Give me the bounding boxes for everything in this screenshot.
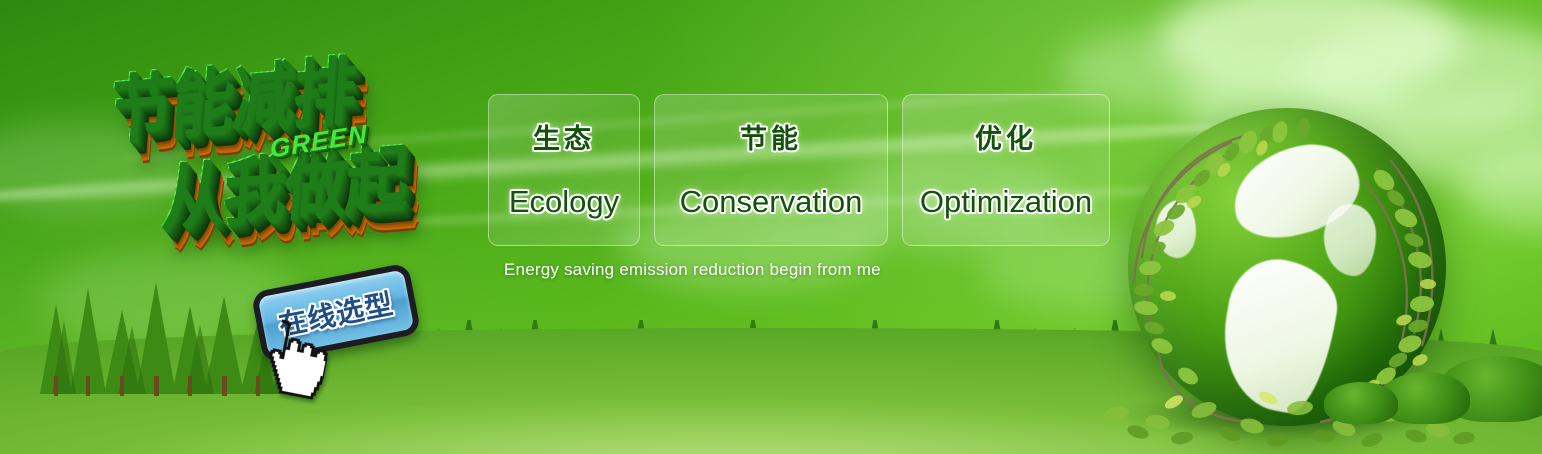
cloud-icon xyxy=(1460,150,1542,230)
feature-card-conservation[interactable]: 节能 Conservation xyxy=(654,94,888,246)
pointing-hand-cursor-icon xyxy=(234,311,333,413)
cloud-icon xyxy=(1160,0,1460,100)
feature-card-ecology[interactable]: 生态 Ecology xyxy=(488,94,640,246)
feature-card-title-cn: 节能 xyxy=(740,117,802,156)
feature-card-title-en: Optimization xyxy=(920,184,1092,220)
feature-card-title-cn: 生态 xyxy=(533,117,595,156)
feature-card-list: 生态 Ecology 节能 Conservation 优化 Optimizati… xyxy=(488,94,1110,246)
feature-card-title-en: Ecology xyxy=(509,184,619,220)
feature-card-optimization[interactable]: 优化 Optimization xyxy=(902,94,1110,246)
banner-tagline: Energy saving emission reduction begin f… xyxy=(504,260,881,280)
feature-card-title-en: Conservation xyxy=(680,184,863,220)
promo-banner: 节能减排 GREEN 从我做起 生态 Ecology 节能 Conservati… xyxy=(0,0,1542,454)
feature-card-title-cn: 优化 xyxy=(975,117,1037,156)
headline-3d-text: 节能减排 GREEN 从我做起 xyxy=(100,38,500,278)
bush-icon xyxy=(1324,382,1398,424)
